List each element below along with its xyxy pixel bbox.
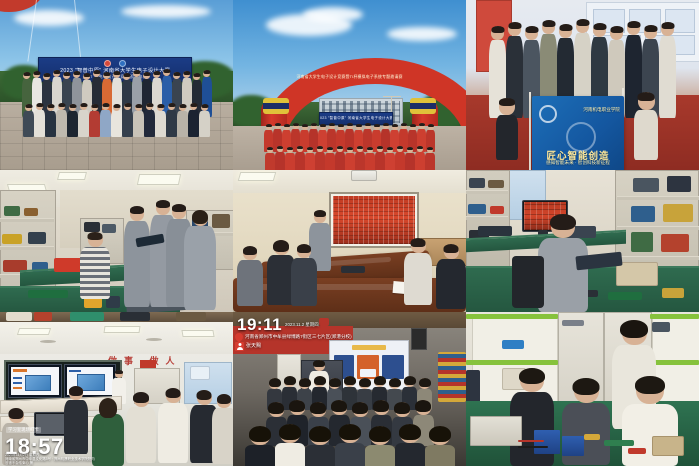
person	[425, 426, 455, 466]
green-shelf	[650, 314, 699, 319]
shelf-board	[466, 216, 508, 220]
person-seated-back	[212, 394, 233, 466]
shelf-board	[0, 218, 54, 222]
test-lead-red	[518, 440, 544, 442]
ceiling-light	[238, 172, 277, 181]
cabinet-item	[562, 320, 584, 326]
pcb-layout-slide	[333, 196, 415, 244]
person	[245, 426, 275, 466]
wall-flag	[319, 318, 329, 326]
stored-material	[70, 312, 104, 321]
person	[56, 103, 67, 138]
person	[188, 103, 199, 138]
stored-material	[176, 312, 206, 321]
table-equipment	[341, 266, 365, 273]
slide-diagram	[25, 375, 51, 391]
collage-cell-lab-student-soldering[interactable]: Student working on hardware at a clutter…	[466, 170, 699, 312]
person	[295, 146, 305, 170]
stored-equipment	[661, 234, 689, 252]
stored-equipment	[667, 176, 691, 192]
ceiling-light	[104, 326, 141, 333]
shelf-board	[0, 246, 54, 250]
person-seated-back	[158, 388, 188, 466]
person	[133, 104, 144, 138]
collage-cell-meeting-room-presentation[interactable]: Presenter explaining a PCB layout projec…	[233, 170, 466, 312]
person	[67, 104, 78, 138]
person	[325, 147, 335, 170]
presentation-slide	[11, 367, 59, 395]
person	[335, 424, 365, 466]
shelf-board	[617, 226, 699, 230]
person	[166, 103, 177, 138]
cardboard-box	[616, 262, 658, 286]
arch-stripe-left	[263, 98, 289, 114]
scene-lab-group-soldering: Four students soldering and testing circ…	[466, 312, 699, 466]
arch-stripe-right	[410, 98, 436, 114]
person	[365, 426, 395, 466]
stored-equipment	[490, 206, 504, 214]
person-standing	[124, 206, 150, 310]
person-seated	[80, 232, 110, 302]
collage-cell-workshop-team-discussion[interactable]: Students in grey uniforms discussing a c…	[0, 170, 233, 312]
scene-group-photo-red-arch: 2023 "智普中原" 河南省大学生电子设计大赛 河南省大学生电子设计竞赛暨TI…	[233, 0, 466, 170]
person	[285, 147, 295, 170]
shelf-board	[617, 196, 699, 200]
arch-text: 河南省大学生电子设计竞赛暨TI杯模拟电子系统专题邀请赛	[296, 74, 402, 80]
person	[111, 104, 122, 138]
person	[395, 146, 405, 170]
person-seated	[436, 244, 466, 312]
person	[375, 146, 385, 170]
stored-equipment	[663, 204, 693, 222]
ceiling-light	[137, 174, 181, 185]
person-seated	[237, 246, 263, 308]
office-chair	[512, 256, 544, 308]
photo-collage: 2023 "智普中原" 河南省大学生电子设计大赛 暨 TI 杯电子设计竞赛 · …	[0, 0, 699, 466]
slide-text-line	[13, 382, 22, 384]
person	[405, 147, 415, 170]
collage-cell-team-photo-expo-flag[interactable]: 河南机电职业学院 匠心智能创造 感知智能未来 · 智创科技新征程 Student…	[466, 0, 699, 170]
person-seated	[404, 238, 432, 308]
person	[305, 147, 315, 170]
person-seated-back	[126, 392, 156, 466]
collage-cell-lab-group-soldering[interactable]: Four students soldering and testing circ…	[466, 312, 699, 466]
person-standing	[184, 210, 216, 312]
wall-notice	[190, 366, 210, 380]
cardboard-box	[652, 436, 684, 456]
pcb-under-test	[604, 440, 634, 446]
person	[78, 103, 89, 138]
bench-clutter	[28, 290, 68, 298]
slide-accent	[13, 369, 27, 372]
test-lead-black	[518, 446, 548, 448]
person-seated	[291, 244, 317, 308]
person	[34, 103, 45, 138]
person	[265, 147, 275, 170]
smart-board-left	[8, 364, 62, 398]
person	[425, 147, 435, 170]
stored-equipment	[84, 222, 100, 232]
person	[355, 146, 365, 170]
person	[155, 104, 166, 138]
stored-equipment	[468, 204, 486, 214]
collage-cell-group-photo-red-arch[interactable]: 2023 "智普中原" 河南省大学生电子设计大赛 河南省大学生电子设计竞赛暨TI…	[233, 0, 466, 170]
stored-equipment	[488, 180, 504, 188]
person	[315, 146, 325, 170]
scene-lab-student-soldering: Student working on hardware at a clutter…	[466, 170, 699, 312]
scene-group-photo-blue-banner: 2023 "智普中原" 河南省大学生电子设计大赛 暨 TI 杯电子设计竞赛 · …	[0, 0, 233, 170]
person	[659, 22, 676, 118]
stored-material	[6, 312, 32, 321]
collage-cell-lecture-hall-session[interactable]: 19:11 2023.11.2 星期四 河南省郑州市中牟县绿博路7街区三七片区(…	[233, 312, 466, 466]
stored-equipment	[633, 178, 659, 192]
green-shelf	[466, 314, 558, 319]
scene-meeting-room-presentation: Presenter explaining a PCB layout projec…	[233, 170, 466, 312]
component-tray	[4, 206, 20, 216]
shelf-board	[466, 190, 508, 194]
shelf-equipment	[466, 370, 480, 404]
person	[100, 103, 111, 138]
slide-title-bar	[352, 345, 386, 350]
soldering-iron	[584, 434, 600, 440]
speaker	[411, 328, 427, 350]
stored-equipment	[631, 206, 655, 222]
tool	[628, 448, 646, 454]
ceiling-fan	[146, 338, 162, 341]
projector-mount	[351, 170, 377, 181]
person	[345, 147, 355, 170]
slide-text-line	[13, 387, 22, 389]
shelf-label-plate	[502, 340, 524, 349]
stored-material	[34, 312, 52, 321]
scene-workshop-team-discussion: Students in grey uniforms discussing a c…	[0, 170, 233, 312]
slide-text-line	[13, 377, 22, 379]
scene-classroom-training-session: 做事 做人	[0, 312, 233, 466]
person	[122, 103, 133, 138]
club-flag: 河南机电职业学院 匠心智能创造 感知智能未来 · 智创科技新征程	[532, 96, 624, 170]
ceiling-light	[17, 328, 51, 335]
person	[395, 424, 425, 466]
stored-material	[120, 312, 150, 321]
ceiling-fan	[40, 340, 56, 343]
crowd-row-squatting-red	[233, 143, 466, 170]
flag-org-name: 河南机电职业学院	[583, 107, 620, 113]
ceiling-light	[181, 330, 214, 337]
ceiling-light	[57, 172, 87, 180]
power-supply	[470, 416, 522, 446]
person-seated-back	[92, 398, 124, 466]
bench-clutter	[54, 258, 82, 272]
person	[23, 104, 34, 138]
component-tray	[28, 232, 46, 244]
component-tray	[24, 208, 38, 216]
person-kneeling-right	[634, 92, 658, 160]
collage-cell-classroom-training-session[interactable]: 做事 做人	[0, 312, 233, 466]
person	[385, 147, 395, 170]
person	[144, 103, 155, 138]
bench-clutter	[478, 226, 512, 236]
component-tray	[2, 234, 22, 244]
person	[275, 424, 305, 466]
scene-lecture-hall-session: 19:11 2023.11.2 星期四 河南省郑州市中牟县绿博路7街区三七片区(…	[233, 312, 466, 466]
person-seated-back	[2, 408, 30, 466]
stored-equipment	[631, 232, 653, 252]
pcb-on-bench	[608, 292, 642, 300]
person	[89, 104, 100, 138]
crowd-row-squatting	[0, 96, 233, 138]
stored-equipment	[469, 178, 485, 188]
soldering-station	[534, 430, 560, 454]
person	[177, 104, 188, 138]
audience-row-front	[233, 424, 466, 466]
person	[199, 104, 210, 138]
person	[365, 147, 375, 170]
person	[275, 146, 285, 170]
shelf-board	[617, 256, 699, 260]
collage-cell-group-photo-blue-banner[interactable]: 2023 "智普中原" 河南省大学生电子设计大赛 暨 TI 杯电子设计竞赛 · …	[0, 0, 233, 170]
soldering-station	[562, 436, 584, 456]
green-shelf	[466, 360, 558, 365]
slide-text-line	[69, 370, 81, 372]
green-shelf	[650, 360, 699, 365]
bench-clutter	[662, 288, 684, 298]
person	[415, 146, 425, 170]
person	[45, 104, 56, 138]
person	[305, 426, 335, 466]
person-seated-back	[64, 386, 88, 456]
scene-team-photo-expo-flag: 河南机电职业学院 匠心智能创造 感知智能未来 · 智创科技新征程 Student…	[466, 0, 699, 170]
person	[335, 146, 345, 170]
university-emblem-icon	[539, 105, 557, 123]
person-kneeling-left	[496, 98, 518, 160]
flag-pole	[529, 92, 531, 170]
flag-subline: 感知智能未来 · 智创科技新征程	[546, 160, 610, 166]
